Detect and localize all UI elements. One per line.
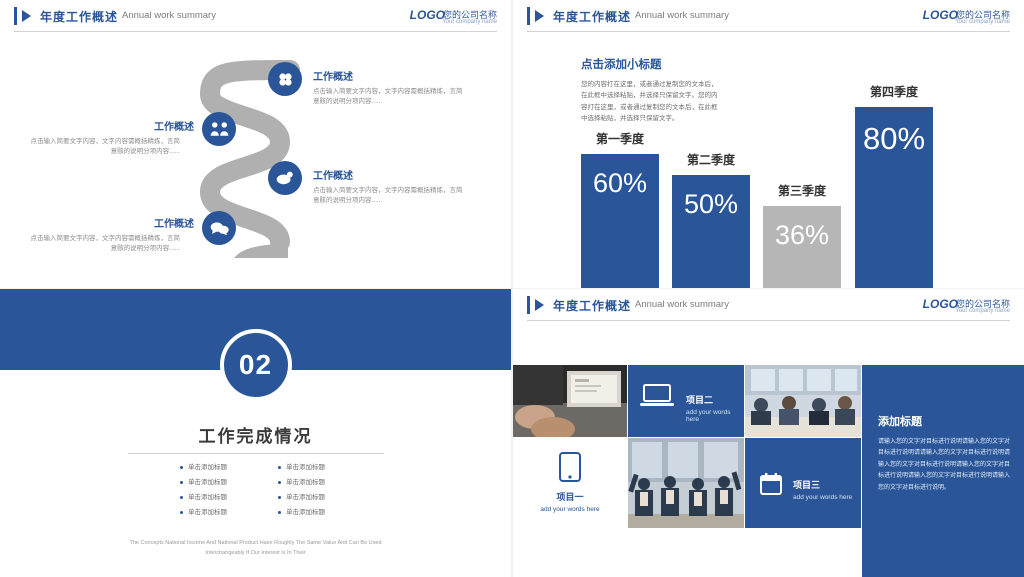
bar-value-q2: 50% <box>684 189 738 220</box>
logo-text: LOGO <box>410 8 445 22</box>
bar-category-q2: 第二季度 <box>672 151 750 168</box>
item-desc-3: 点击输入简要文字内容，文字内容需概括精炼，言简意赅的说明分项内容...... <box>313 186 465 207</box>
logo-text: LOGO <box>923 297 958 311</box>
clover-icon <box>277 71 294 88</box>
chat-icon <box>210 221 229 236</box>
bullet-list-right: 单击添加标题 单击添加标题 单击添加标题 单击添加标题 <box>278 461 325 521</box>
calendar-icon <box>759 472 783 496</box>
item-text-4: 工作概述 点击输入简要文字内容，文字内容需概括精炼，言简意赅的说明分项内容...… <box>28 215 194 255</box>
bullet-dot-icon <box>278 466 281 469</box>
tile-item-one[interactable]: 项目一 add your words here <box>513 438 627 528</box>
play-triangle-icon <box>535 299 544 311</box>
list-item-label: 单击添加标题 <box>286 494 325 501</box>
photo-cheering-team-art <box>628 438 744 528</box>
header-divider <box>14 31 497 32</box>
tile-item-two-subtitle: add your words here <box>686 409 744 423</box>
slide-4-header: 年度工作概述 Annual work summary LOGO 您的公司名称 Y… <box>513 289 1024 323</box>
company-name-en: Your company name <box>955 308 1010 314</box>
list-item: 单击添加标题 <box>278 461 325 471</box>
weibo-icon <box>276 171 294 185</box>
footnote: The Concepts National Income And Nationa… <box>0 539 511 559</box>
list-item: 单击添加标题 <box>180 506 227 516</box>
laptop-icon <box>640 383 674 409</box>
photo-cheering-team <box>628 438 744 528</box>
bar-q2: 50% <box>672 175 750 288</box>
tile-item-three-caption: 项目三 add your words here <box>793 478 852 501</box>
tablet-icon <box>559 452 581 482</box>
list-item-label: 单击添加标题 <box>188 464 227 471</box>
item-title-3: 工作概述 <box>313 167 465 182</box>
slide-1-header: 年度工作概述 Annual work summary LOGO 您的公司名称 Y… <box>0 0 511 34</box>
item-desc-2: 点击输入简要文字内容，文字内容需概括精炼，言简意赅的说明分项内容...... <box>28 137 180 158</box>
bar-category-q4: 第四季度 <box>855 83 933 100</box>
panel-title: 添加标题 <box>878 413 1010 429</box>
item-text-3: 工作概述 点击输入简要文字内容，文字内容需概括精炼，言简意赅的说明分项内容...… <box>313 167 465 207</box>
photo-hands-laptop-art <box>513 365 627 437</box>
bullet-dot-icon <box>278 511 281 514</box>
bar-q1: 60% <box>581 154 659 288</box>
slide-deck-canvas: 年度工作概述 Annual work summary LOGO 您的公司名称 Y… <box>0 0 1024 577</box>
play-triangle-icon <box>22 10 31 22</box>
people-icon <box>210 121 229 137</box>
list-item: 单击添加标题 <box>278 506 325 516</box>
bullet-dot-icon <box>180 481 183 484</box>
bullet-list-left: 单击添加标题 单击添加标题 单击添加标题 单击添加标题 <box>180 461 227 521</box>
tile-item-one-title: 项目一 <box>513 490 627 503</box>
bar-q3: 36% <box>763 206 841 288</box>
node-icon-weibo[interactable] <box>268 161 302 195</box>
item-title-1: 工作概述 <box>313 68 465 83</box>
tile-item-two[interactable]: 项目二 add your words here <box>628 365 744 437</box>
photo-meeting-room-art <box>745 365 861 437</box>
company-name-en: Your company name <box>442 19 497 25</box>
tile-item-three-title: 项目三 <box>793 478 852 491</box>
slide-1[interactable]: 年度工作概述 Annual work summary LOGO 您的公司名称 Y… <box>0 0 511 288</box>
panel-content: 添加标题 请输入您的文字对目标进行说明请输入您的文字对目标进行说明请请输入您的文… <box>878 413 1010 494</box>
section-number: 02 <box>239 349 272 381</box>
header-accent-bar <box>14 7 17 25</box>
slide-3[interactable]: 02 工作完成情况 单击添加标题 单击添加标题 单击添加标题 单击添加标题 单击… <box>0 289 511 577</box>
item-title-2: 工作概述 <box>28 118 194 133</box>
section-divider <box>128 453 384 454</box>
bullet-dot-icon <box>278 496 281 499</box>
photo-hands-laptop <box>513 365 627 437</box>
node-icon-chat[interactable] <box>202 211 236 245</box>
bullet-dot-icon <box>180 466 183 469</box>
list-item: 单击添加标题 <box>180 461 227 471</box>
list-item-label: 单击添加标题 <box>188 509 227 516</box>
list-item-label: 单击添加标题 <box>286 464 325 471</box>
bullet-dot-icon <box>278 481 281 484</box>
list-item: 单击添加标题 <box>180 491 227 501</box>
tile-item-two-caption: 项目二 add your words here <box>686 393 744 423</box>
header-title-en: Annual work summary <box>635 299 729 310</box>
bar-value-q3: 36% <box>775 220 829 251</box>
tile-item-three-subtitle: add your words here <box>793 494 852 501</box>
tile-item-three[interactable]: 项目三 add your words here <box>745 438 861 528</box>
footnote-line-1: The Concepts National Income And Nationa… <box>0 539 511 549</box>
header-divider <box>527 320 1010 321</box>
node-icon-clover[interactable] <box>268 62 302 96</box>
list-item-label: 单击添加标题 <box>188 479 227 486</box>
list-item: 单击添加标题 <box>180 476 227 486</box>
list-item: 单击添加标题 <box>278 476 325 486</box>
node-icon-people[interactable] <box>202 112 236 146</box>
item-text-1: 工作概述 点击输入简要文字内容，文字内容需概括精炼，言简意赅的说明分项内容...… <box>313 68 465 108</box>
slide-2[interactable]: 年度工作概述 Annual work summary LOGO 您的公司名称 Y… <box>513 0 1024 288</box>
bar-chart: 60% 第一季度 50% 第二季度 36% 第三季度 80% 第四季度 <box>513 0 1024 288</box>
section-title: 工作完成情况 <box>0 422 511 447</box>
header-title-cn: 年度工作概述 <box>40 8 118 25</box>
bullet-dot-icon <box>180 496 183 499</box>
tile-item-two-title: 项目二 <box>686 393 744 406</box>
tile-item-one-subtitle: add your words here <box>513 506 627 513</box>
item-desc-1: 点击输入简要文字内容，文字内容需概括精炼，言简意赅的说明分项内容...... <box>313 87 465 108</box>
tile-item-one-caption: 项目一 add your words here <box>513 490 627 513</box>
list-item-label: 单击添加标题 <box>286 479 325 486</box>
photo-meeting-room <box>745 365 861 437</box>
section-number-badge: 02 <box>220 329 292 401</box>
slide-4[interactable]: 年度工作概述 Annual work summary LOGO 您的公司名称 Y… <box>513 289 1024 577</box>
item-desc-4: 点击输入简要文字内容，文字内容需概括精炼，言简意赅的说明分项内容...... <box>28 234 180 255</box>
list-item: 单击添加标题 <box>278 491 325 501</box>
bullet-dot-icon <box>180 511 183 514</box>
list-item-label: 单击添加标题 <box>286 509 325 516</box>
item-text-2: 工作概述 点击输入简要文字内容，文字内容需概括精炼，言简意赅的说明分项内容...… <box>28 118 194 158</box>
bar-value-q4: 80% <box>863 121 925 157</box>
bar-category-q1: 第一季度 <box>581 130 659 147</box>
header-accent-bar <box>527 296 530 314</box>
panel-body: 请输入您的文字对目标进行说明请输入您的文字对目标进行说明请请输入您的文字对目标进… <box>878 437 1010 494</box>
list-item-label: 单击添加标题 <box>188 494 227 501</box>
item-title-4: 工作概述 <box>28 215 194 230</box>
bar-q4: 80% <box>855 107 933 288</box>
footnote-line-2: Interchangeably If Our Interest Is In Th… <box>0 549 511 559</box>
header-title-cn: 年度工作概述 <box>553 297 631 314</box>
bar-value-q1: 60% <box>593 168 647 199</box>
header-title-en: Annual work summary <box>122 10 216 21</box>
bar-category-q3: 第三季度 <box>763 182 841 199</box>
panel-add-title[interactable]: 添加标题 请输入您的文字对目标进行说明请输入您的文字对目标进行说明请请输入您的文… <box>862 365 1024 577</box>
